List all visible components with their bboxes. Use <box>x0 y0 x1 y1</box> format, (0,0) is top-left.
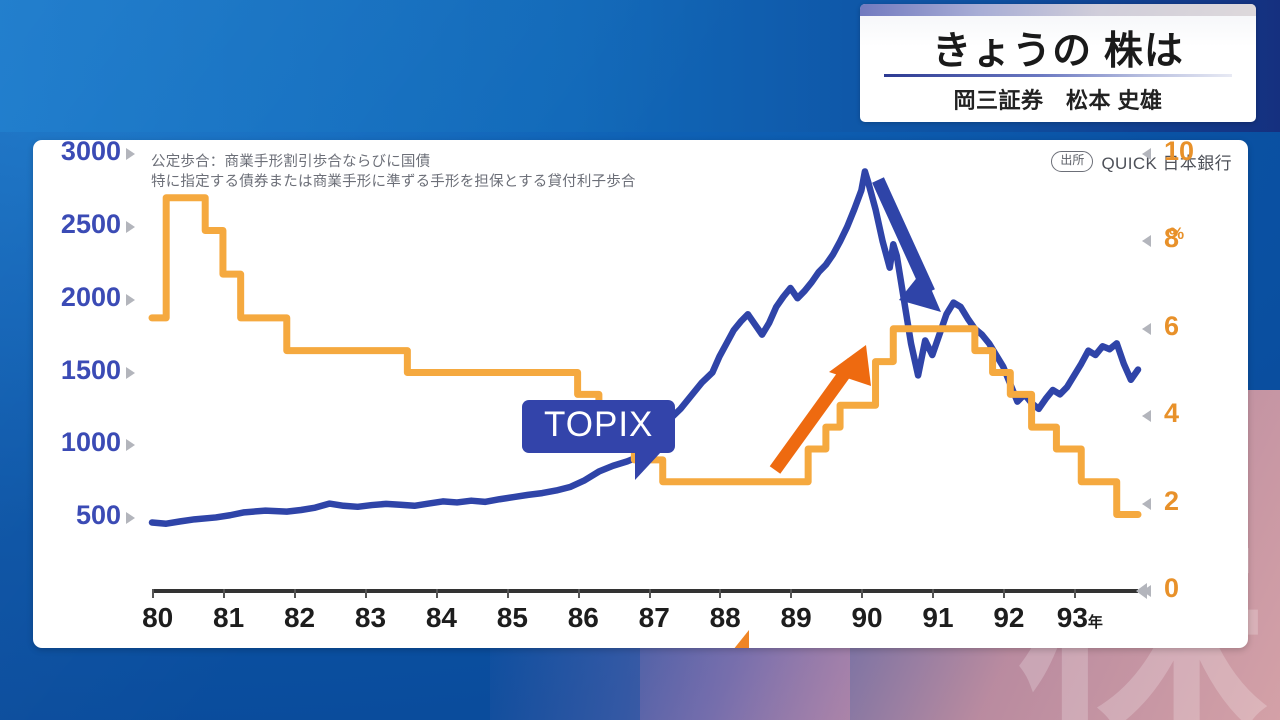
x-axis-label-91: 91 <box>922 602 953 634</box>
x-axis-tick <box>507 589 509 598</box>
x-axis-label-85: 85 <box>497 602 528 634</box>
x-axis-tick <box>578 589 580 598</box>
x-axis-tick <box>1074 589 1076 598</box>
x-axis-label-80: 80 <box>142 602 173 634</box>
x-axis-tick <box>1003 589 1005 598</box>
x-axis-arrow-icon <box>1136 583 1147 599</box>
title-card-sheen <box>860 4 1256 16</box>
x-axis-tick <box>861 589 863 598</box>
x-axis-label-92: 92 <box>993 602 1024 634</box>
x-axis-label-81: 81 <box>213 602 244 634</box>
x-axis-tick <box>790 589 792 598</box>
x-axis-tick <box>223 589 225 598</box>
x-axis-tick <box>152 589 154 598</box>
topix-callout-tail <box>635 452 661 480</box>
x-axis-label-82: 82 <box>284 602 315 634</box>
x-axis-unit: 年 <box>1088 614 1103 631</box>
program-title: きょうの 株は <box>860 20 1256 76</box>
x-axis-label-89: 89 <box>781 602 812 634</box>
x-axis-label-84: 84 <box>426 602 457 634</box>
x-axis-tick <box>365 589 367 598</box>
chart-panel: 公定歩合：商業手形割引歩合ならびに国債 特に指定する債券または商業手形に準ずる手… <box>33 140 1248 648</box>
commentator-name: 岡三証券 松本 史雄 <box>860 83 1256 115</box>
program-title-card: きょうの 株は 岡三証券 松本 史雄 <box>860 4 1256 122</box>
x-axis-label-87: 87 <box>639 602 670 634</box>
x-axis-tick <box>649 589 651 598</box>
title-divider <box>884 74 1232 77</box>
x-axis-label-90: 90 <box>851 602 882 634</box>
x-axis-line <box>152 589 1138 593</box>
x-axis-tick <box>294 589 296 598</box>
plot-area <box>33 140 1248 648</box>
x-axis-label-83: 83 <box>355 602 386 634</box>
topix-callout: TOPIX <box>522 400 675 453</box>
x-axis-label-93: 93年 <box>1057 602 1103 634</box>
discount-rate-callout-tail <box>725 630 749 648</box>
blue-down-arrow-icon <box>878 180 941 312</box>
x-axis-tick <box>436 589 438 598</box>
x-axis-tick <box>719 589 721 598</box>
x-axis-label-86: 86 <box>568 602 599 634</box>
x-axis-tick <box>932 589 934 598</box>
